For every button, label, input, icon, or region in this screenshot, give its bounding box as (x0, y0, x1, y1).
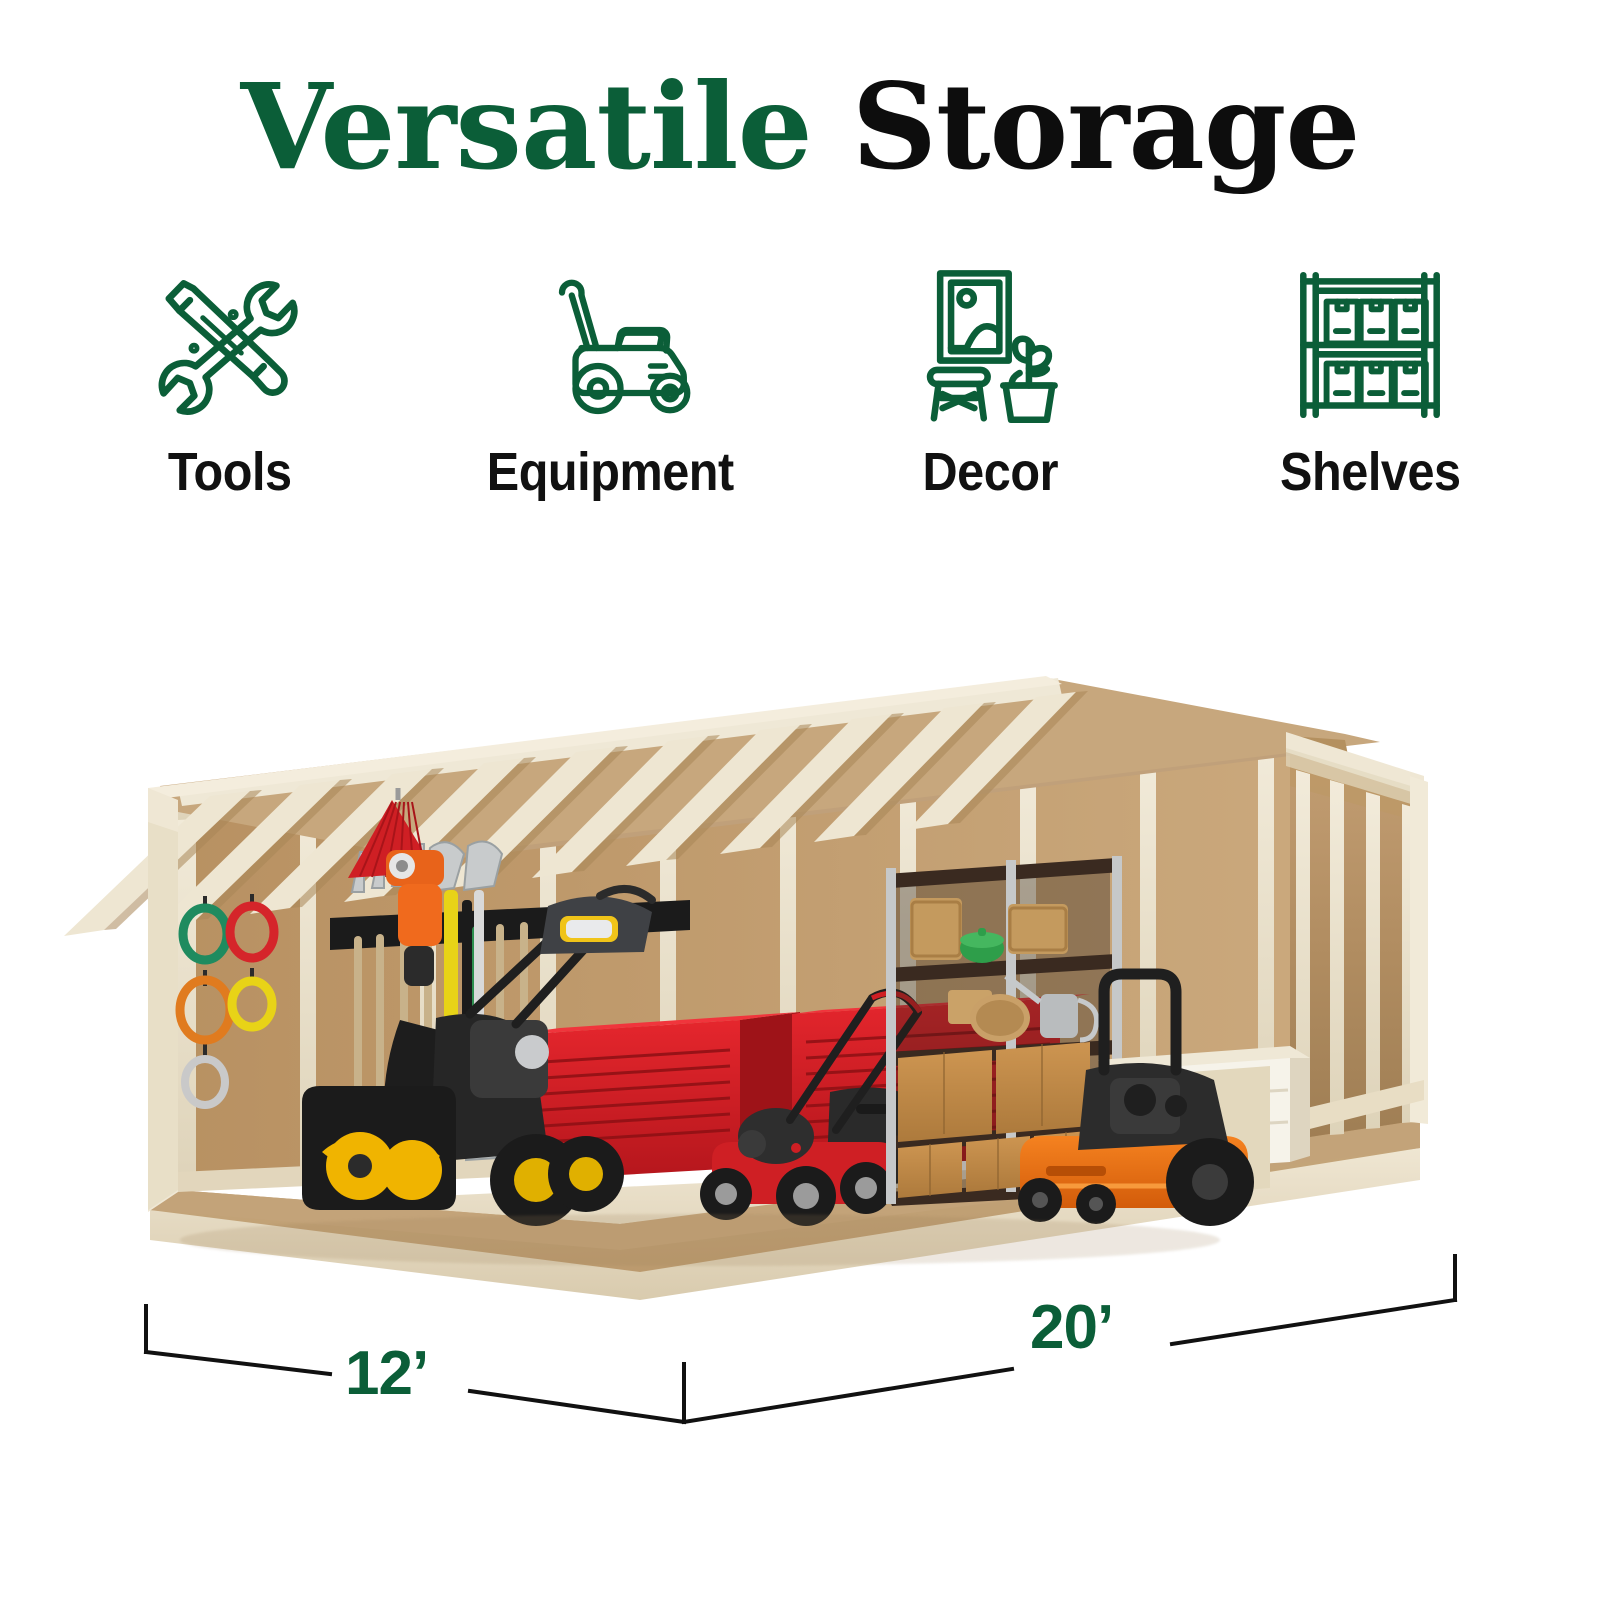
shelving-unit-boxes-icon (1289, 262, 1451, 427)
page-title-rest: Storage (812, 57, 1360, 196)
feature-item-equipment: Equipment (440, 262, 780, 503)
feature-label-decor: Decor (922, 441, 1058, 503)
feature-label-tools: Tools (168, 441, 292, 503)
page-title-emphasis: Versatile (241, 57, 812, 196)
feature-item-tools: Tools (60, 262, 400, 503)
feature-item-decor: Decor (820, 262, 1160, 503)
feature-label-shelves: Shelves (1280, 441, 1461, 503)
lawn-mower-icon (521, 262, 699, 427)
product-infographic: Versatile Storage Tools (0, 0, 1600, 1600)
page-title: Versatile Storage (0, 62, 1600, 192)
feature-item-shelves: Shelves (1200, 262, 1540, 503)
picture-stool-plant-icon (915, 262, 1065, 427)
crossed-wrench-screwdriver-icon (150, 262, 310, 427)
feature-label-equipment: Equipment (486, 441, 733, 503)
shed-near-end-wall (148, 788, 178, 1212)
storage-shed-illustration (0, 600, 1600, 1360)
feature-list: Tools (60, 262, 1540, 522)
